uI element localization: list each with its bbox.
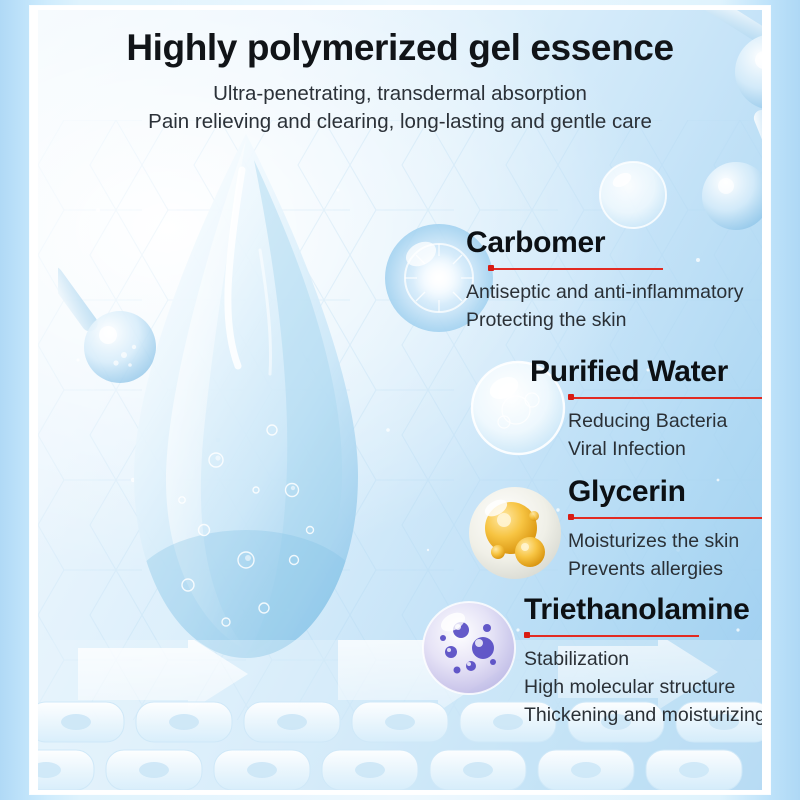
- ingredient-block-purified-water: Purified Water Reducing Bacteria Viral I…: [530, 356, 762, 463]
- ingredient-name-purified-water: Purified Water: [530, 356, 762, 388]
- ingredient-block-triethanolamine: Triethanolamine Stabilization High molec…: [508, 594, 762, 729]
- water-droplet-icon: [96, 130, 396, 710]
- ingredient-name-triethanolamine: Triethanolamine: [524, 594, 762, 626]
- accent-rule: [488, 264, 663, 274]
- ingredient-block-glycerin: Glycerin Moisturizes the skin Prevents a…: [530, 476, 762, 583]
- ingredient-desc-line: Thickening and moisturizing: [524, 701, 762, 729]
- ingredient-desc-line: Moisturizes the skin: [568, 527, 762, 555]
- ingredient-desc-line: Protecting the skin: [466, 306, 762, 334]
- subtitle-line-2: Pain relieving and clearing, long-lastin…: [38, 108, 762, 136]
- ingredient-desc-line: Reducing Bacteria: [568, 407, 762, 435]
- purple-molecule-bubble-icon: [421, 600, 517, 696]
- ingredient-block-carbomer: Carbomer Antiseptic and anti-inflammator…: [466, 227, 762, 334]
- ingredient-name-carbomer: Carbomer: [466, 227, 762, 259]
- subtitle: Ultra-penetrating, transdermal absorptio…: [38, 80, 762, 135]
- poster-root: Highly polymerized gel essence Ultra-pen…: [0, 0, 800, 800]
- ingredient-name-glycerin: Glycerin: [568, 476, 762, 508]
- poster-stage: Highly polymerized gel essence Ultra-pen…: [38, 10, 762, 790]
- accent-rule: [524, 631, 699, 641]
- ingredient-desc-line: Viral Infection: [568, 435, 762, 463]
- ingredient-desc-line: High molecular structure: [524, 673, 762, 701]
- subtitle-line-1: Ultra-penetrating, transdermal absorptio…: [38, 80, 762, 108]
- ingredient-desc-line: Prevents allergies: [568, 555, 762, 583]
- ingredient-desc-line: Antiseptic and anti-inflammatory: [466, 278, 762, 306]
- accent-rule: [568, 393, 762, 403]
- accent-rule: [568, 513, 762, 523]
- ingredient-desc-line: Stabilization: [524, 645, 762, 673]
- small-bubble-icon: [598, 160, 668, 230]
- page-title: Highly polymerized gel essence: [38, 28, 762, 69]
